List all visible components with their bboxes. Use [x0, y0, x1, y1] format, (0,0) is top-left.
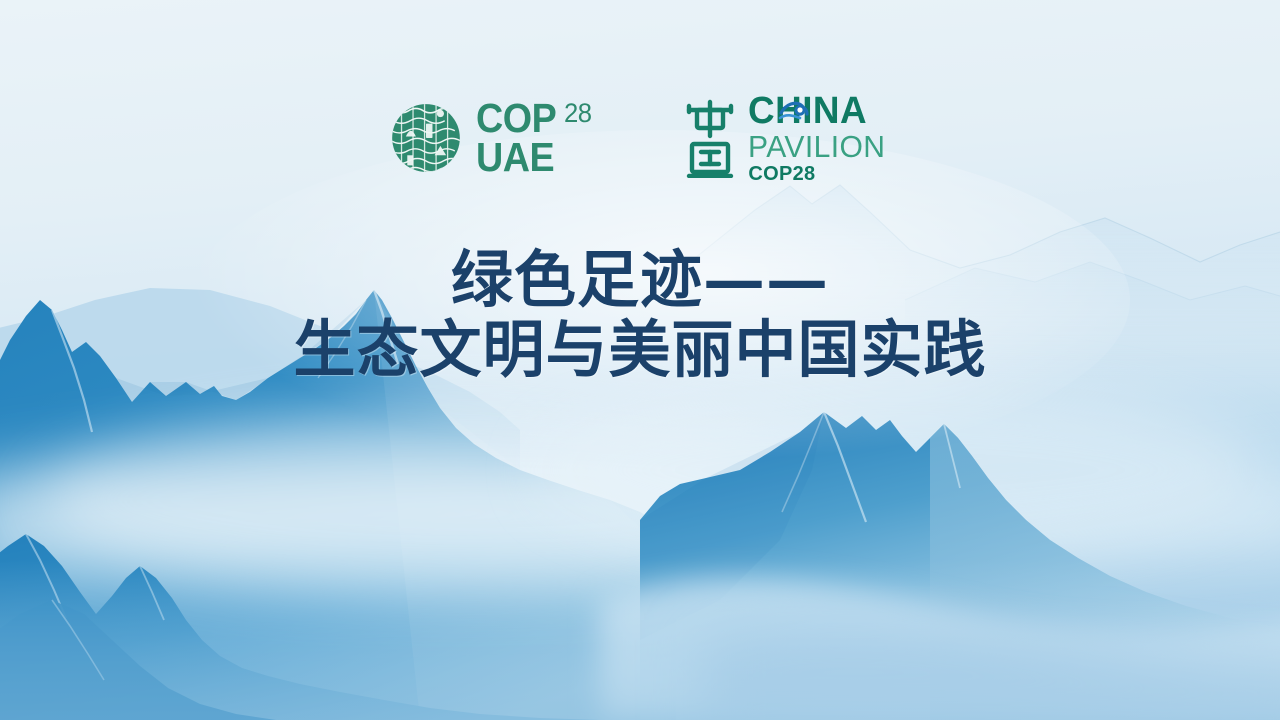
cop28-circular-illustration-emblem-icon: [390, 102, 462, 174]
title-line-1: 绿色足迹——: [0, 248, 1280, 312]
title-line-2: 生态文明与美丽中国实践: [0, 312, 1280, 389]
bottom-left-wedge: [0, 600, 276, 720]
cop28-wordmark: COP 28 UAE: [476, 101, 593, 175]
slide-canvas: COP 28 UAE: [0, 0, 1280, 720]
china-pavilion-logo: CHINA PAVILION COP28: [685, 93, 890, 184]
logo-bar: COP 28 UAE: [0, 92, 1280, 184]
uae-label: UAE: [476, 140, 584, 175]
lower-right-haze: [700, 625, 1280, 720]
mist-peak-base: [600, 579, 1280, 720]
cop-number-label: 28: [564, 102, 592, 125]
slide-title: 绿色足迹—— 生态文明与美丽中国实践: [0, 248, 1280, 389]
pavilion-label: PAVILION: [748, 131, 885, 162]
zhongguo-seal-icon: [685, 98, 735, 178]
cop-label: COP: [476, 101, 556, 136]
cop28-uae-logo: COP 28 UAE: [390, 101, 593, 175]
center-right-peak: [640, 412, 1280, 720]
china-pavilion-wordmark: CHINA PAVILION COP28: [748, 93, 890, 184]
mist-band-mid: [0, 440, 1280, 610]
pavilion-cop28-label: COP28: [748, 164, 890, 184]
wave-swirl-icon: [778, 92, 812, 124]
left-foreground-ridge: [0, 534, 600, 720]
